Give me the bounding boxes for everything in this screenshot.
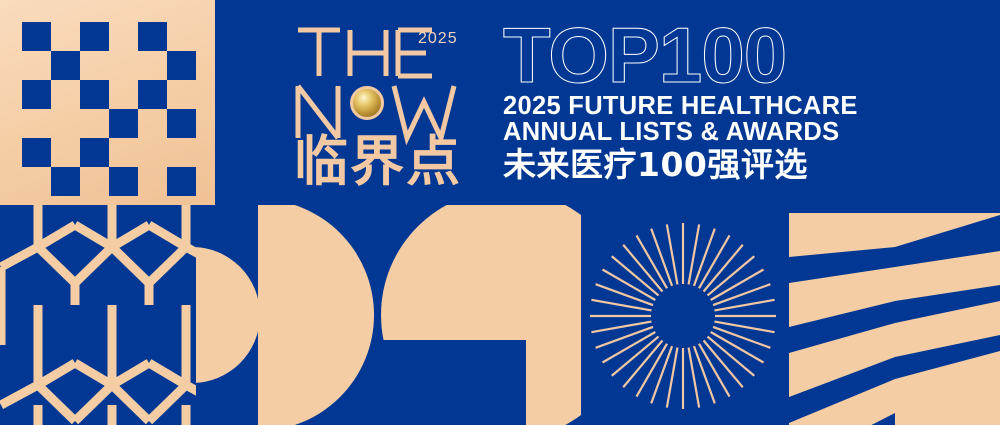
checker-cell-0-5 <box>167 22 196 51</box>
checker-cell-1-4 <box>138 51 167 80</box>
promo-banner: 临界点 2025 TOP100 2025 FUTURE HEALTHCARE A… <box>0 0 1000 425</box>
logo-chinese-text: 临界点 <box>294 130 462 186</box>
checker-cell-5-5 <box>167 167 196 196</box>
checker-cell-4-5 <box>167 138 196 167</box>
checkerboard-grid <box>22 22 196 196</box>
checker-cell-2-2 <box>80 80 109 109</box>
top100-title: TOP100 <box>503 22 973 89</box>
diagonal-stripes-decoration <box>785 205 1000 425</box>
checker-cell-2-5 <box>167 80 196 109</box>
checker-cell-5-1 <box>51 167 80 196</box>
the-now-logo: 临界点 2025 <box>290 18 490 186</box>
checker-cell-1-1 <box>51 51 80 80</box>
checker-cell-1-5 <box>167 51 196 80</box>
checker-cell-4-0 <box>22 138 51 167</box>
checker-cell-2-1 <box>51 80 80 109</box>
checker-cell-4-1 <box>51 138 80 167</box>
checker-cell-2-4 <box>138 80 167 109</box>
checker-cell-5-3 <box>109 167 138 196</box>
checker-cell-5-4 <box>138 167 167 196</box>
circle-cluster-decoration <box>196 205 581 425</box>
sunburst-decoration <box>588 207 778 425</box>
checker-cell-4-2 <box>80 138 109 167</box>
checker-cell-3-5 <box>167 109 196 138</box>
gold-orb-icon <box>350 86 384 120</box>
logo-year: 2025 <box>418 30 458 48</box>
checker-cell-0-1 <box>51 22 80 51</box>
checker-cell-5-0 <box>22 167 51 196</box>
headline-chinese: 未来医疗100强评选 <box>503 147 973 184</box>
headline-line-1: 2025 FUTURE HEALTHCARE <box>503 93 973 119</box>
checker-cell-3-3 <box>109 109 138 138</box>
checkerboard-decoration <box>0 0 215 205</box>
checker-cell-1-3 <box>109 51 138 80</box>
checker-cell-4-3 <box>109 138 138 167</box>
checker-cell-0-3 <box>109 22 138 51</box>
checker-cell-3-0 <box>22 109 51 138</box>
checker-cell-1-0 <box>22 51 51 80</box>
checker-cell-1-2 <box>80 51 109 80</box>
checker-cell-3-1 <box>51 109 80 138</box>
checker-cell-5-2 <box>80 167 109 196</box>
checker-cell-3-4 <box>138 109 167 138</box>
hexagon-lattice-decoration <box>0 205 215 425</box>
checker-cell-4-4 <box>138 138 167 167</box>
headline-block: TOP100 2025 FUTURE HEALTHCARE ANNUAL LIS… <box>503 22 973 184</box>
checker-cell-0-2 <box>80 22 109 51</box>
checker-cell-2-3 <box>109 80 138 109</box>
checker-cell-0-4 <box>138 22 167 51</box>
checker-cell-2-0 <box>22 80 51 109</box>
checker-cell-3-2 <box>80 109 109 138</box>
headline-line-2: ANNUAL LISTS & AWARDS <box>503 119 973 145</box>
checker-cell-0-0 <box>22 22 51 51</box>
